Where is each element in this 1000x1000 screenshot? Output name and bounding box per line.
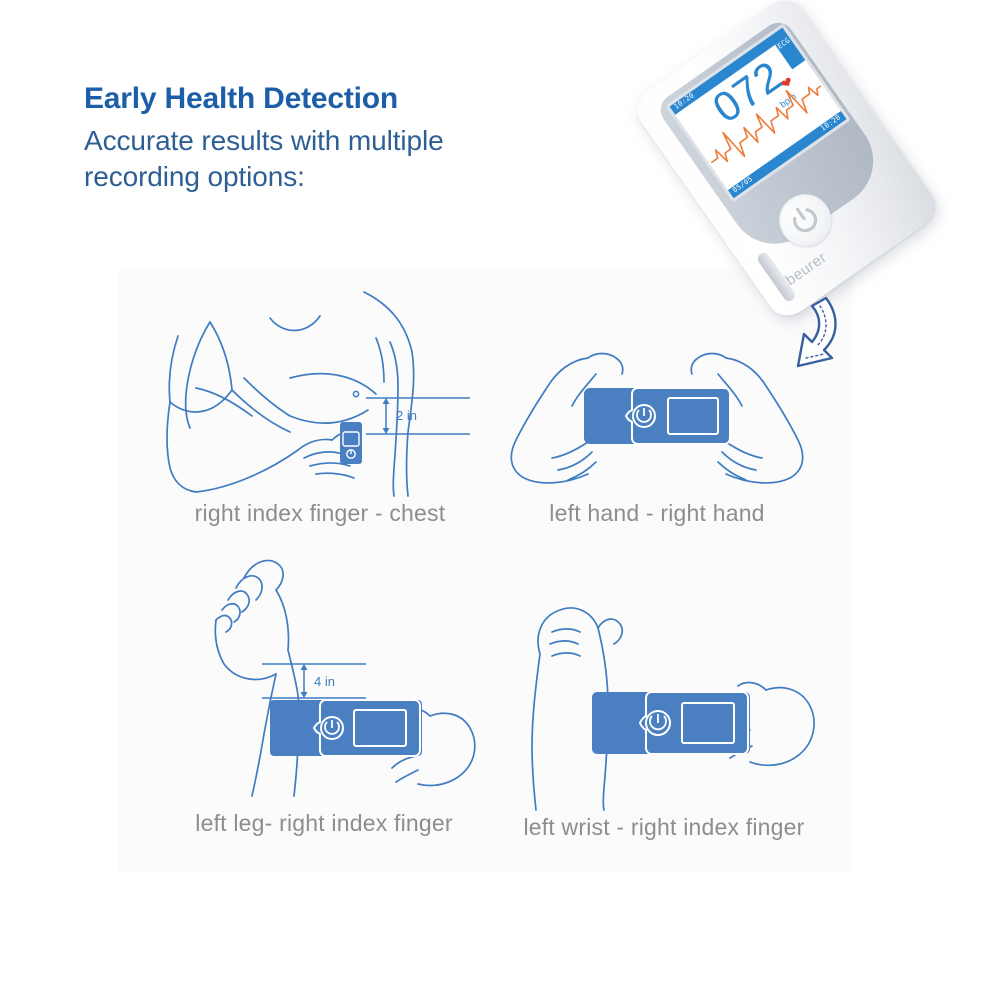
caption-wrist: left wrist - right index finger bbox=[478, 814, 850, 841]
subtitle-line-1: Accurate results with multiple bbox=[84, 123, 604, 160]
device-icon-leg bbox=[270, 700, 422, 756]
caption-leg: left leg- right index finger bbox=[148, 810, 500, 837]
measurement-label-chest: 2 in bbox=[396, 408, 417, 423]
measurement-label-leg: 4 in bbox=[314, 674, 335, 689]
illustration-chest: 2 in right index finger - chest bbox=[140, 282, 500, 540]
two-hands-holding-device-illustration bbox=[492, 330, 822, 498]
caption-chest: right index finger - chest bbox=[140, 500, 500, 527]
caption-hands: left hand - right hand bbox=[492, 500, 822, 527]
illustration-wrist: left wrist - right index finger bbox=[478, 596, 850, 854]
measurement-annotation-chest: 2 in bbox=[366, 398, 470, 434]
device-icon-hands bbox=[584, 388, 730, 444]
page-title: Early Health Detection bbox=[84, 82, 604, 117]
promo-image-root: Early Health Detection Accurate results … bbox=[0, 0, 1000, 1000]
headline-block: Early Health Detection Accurate results … bbox=[84, 82, 604, 196]
page-subtitle: Accurate results with multiple recording… bbox=[84, 123, 604, 197]
device-body: 10:20 ECG 072 ❤ bpm 05/05 10:20 bbox=[629, 0, 943, 324]
wrist-with-device-illustration bbox=[478, 596, 850, 811]
measurement-annotation-leg: 4 in bbox=[262, 664, 366, 698]
power-icon bbox=[785, 200, 825, 241]
illustration-hands: left hand - right hand bbox=[492, 330, 822, 542]
illustration-leg: 4 in left leg- right index finger bbox=[148, 552, 500, 852]
subtitle-line-2: recording options: bbox=[84, 159, 604, 196]
device-icon-chest bbox=[340, 422, 362, 464]
device-icon-wrist bbox=[592, 692, 750, 754]
torso-with-device-illustration: 2 in bbox=[140, 282, 500, 497]
device-rotation-frame: 10:20 ECG 072 ❤ bpm 05/05 10:20 bbox=[629, 0, 943, 324]
ecg-device-photo: 10:20 ECG 072 ❤ bpm 05/05 10:20 bbox=[636, 18, 946, 288]
leg-with-device-illustration: 4 in bbox=[148, 552, 500, 807]
